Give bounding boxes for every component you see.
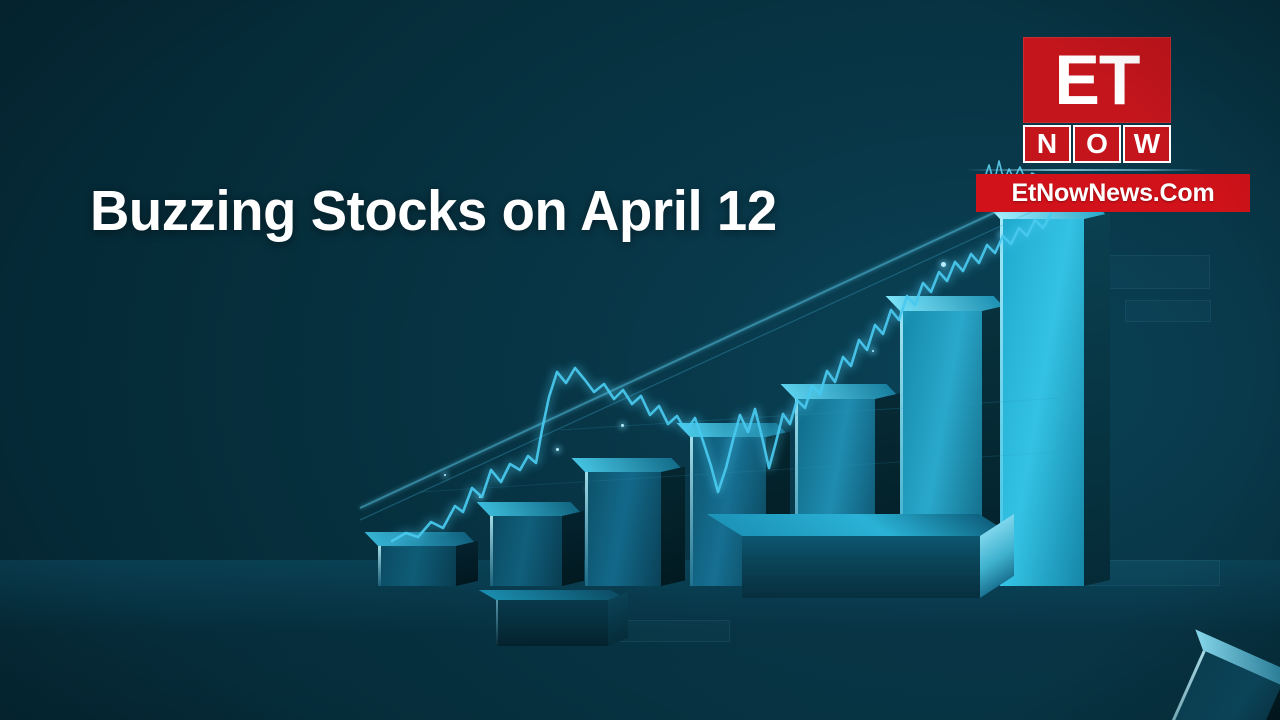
promo-banner: Buzzing Stocks on April 12 ET N O W EtNo… (0, 0, 1280, 720)
vignette-overlay (0, 0, 1280, 720)
